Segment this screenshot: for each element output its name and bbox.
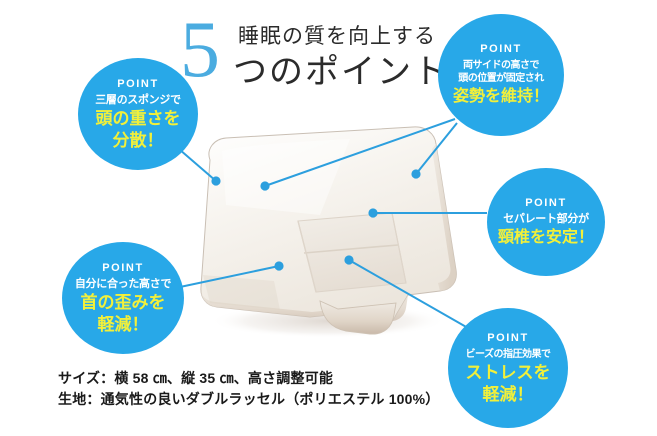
headline-numeral: 5 [180,10,218,90]
point-label-3: POINT [525,197,567,209]
point-label-4: POINT [102,262,144,274]
infographic-canvas: 5 睡眠の質を向上する つのポイント POINT 三層のスポンジで 頭の重さを … [0,0,657,436]
point-subtitle-5: ビーズの指圧効果で [466,348,551,361]
product-specs: サイズ：横 58 ㎝、縦 35 ㎝、高さ調整可能 生地：通気性の良いダブルラッセ… [58,368,488,410]
point-subtitle-1: 三層のスポンジで [95,94,181,107]
headline-line-2: つのポイント [233,56,449,90]
point-highlight-4a: 首の歪みを [81,293,166,313]
point-label-2: POINT [480,43,522,55]
spec-size: サイズ：横 58 ㎝、縦 35 ㎝、高さ調整可能 [58,368,488,389]
point-subtitle-3: セパレート部分が [503,213,589,226]
point-highlight-3: 頸椎を安定！ [498,228,594,248]
point-bubble-1: POINT 三層のスポンジで 頭の重さを 分散！ [78,58,198,170]
point-bubble-2: POINT 両サイドの高さで 頭の位置が固定され 姿勢を維持！ [438,14,564,136]
point-subtitle-2b: 頭の位置が固定され [458,72,544,85]
point-subtitle-4: 自分に合った高さで [75,278,171,291]
point-label-5: POINT [487,332,529,344]
point-bubble-4: POINT 自分に合った高さで 首の歪みを 軽減！ [62,242,184,354]
point-highlight-4b: 軽減！ [98,315,149,335]
point-subtitle-2a: 両サイドの高さで [463,59,539,72]
spec-fabric: 生地：通気性の良いダブルラッセル（ポリエステル 100%） [58,389,488,410]
point-label-1: POINT [117,78,159,90]
point-bubble-3: POINT セパレート部分が 頸椎を安定！ [487,168,605,276]
point-highlight-1a: 頭の重さを [96,109,181,129]
headline-line-1: 睡眠の質を向上する [238,26,436,47]
point-highlight-2: 姿勢を維持！ [453,87,549,107]
point-highlight-5b: 軽減！ [483,385,534,405]
pillow-illustration [170,125,470,340]
headline-block: 5 睡眠の質を向上する つのポイント [180,12,450,98]
point-highlight-1b: 分散！ [113,131,164,151]
pillow-product-image [170,125,470,340]
